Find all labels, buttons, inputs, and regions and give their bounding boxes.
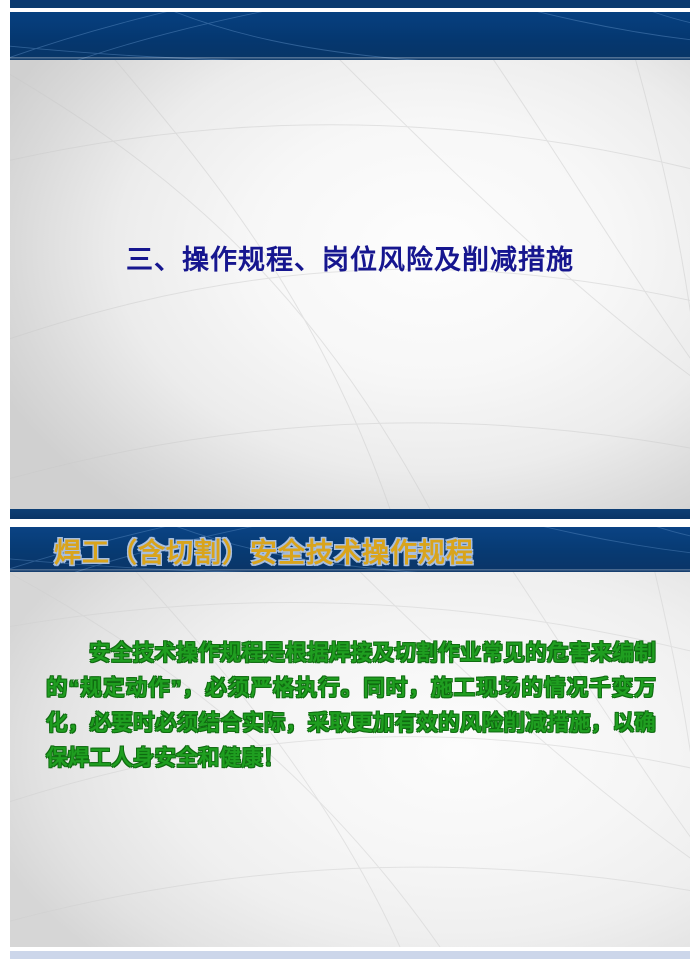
slide-section-title[interactable]: 三、操作规程、岗位风险及削减措施 (10, 12, 690, 519)
presentation-scroll-viewer[interactable]: 三、操作规程、岗位风险及削减措施 焊工（含切割）安全技术操作规程 (0, 0, 700, 959)
slide-header-bar: 焊工（含切割）安全技术操作规程 (10, 527, 690, 572)
slide-welding-safety-rules[interactable]: 焊工（含切割）安全技术操作规程 安全技术操作规程是根据焊接及切割作业常见的危害来… (10, 527, 690, 947)
previous-slide-banner (10, 0, 690, 2)
slide-header-title: 焊工（含切割）安全技术操作规程 (54, 531, 474, 570)
slide-body-paragraph: 安全技术操作规程是根据焊接及切割作业常见的危害来编制的“规定动作”，必须严格执行… (46, 636, 656, 776)
slide-title-canvas: 三、操作规程、岗位风险及削减措施 (10, 60, 690, 509)
banner-swoosh-decoration (10, 12, 690, 60)
slide-previous-sliver[interactable] (10, 0, 690, 8)
slide-top-banner (10, 12, 690, 60)
page-title: 三、操作规程、岗位风险及削减措施 (10, 238, 690, 277)
background-swoosh-decoration (10, 60, 690, 509)
slide-content-canvas: 安全技术操作规程是根据焊接及切割作业常见的危害来编制的“规定动作”，必须严格执行… (10, 572, 690, 947)
slide-bottom-banner (10, 509, 690, 519)
slide-next-sliver[interactable] (10, 951, 690, 959)
slide-separator-gap (0, 519, 700, 527)
